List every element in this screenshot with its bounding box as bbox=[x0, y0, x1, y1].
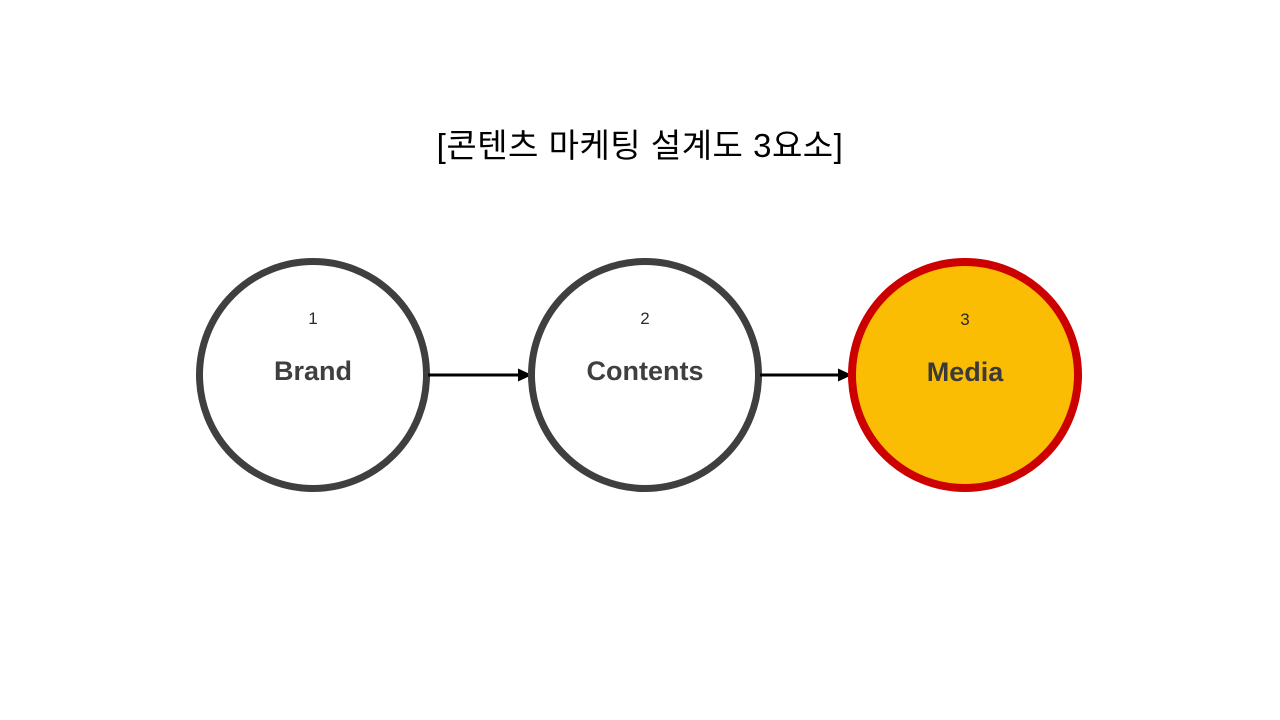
flow-arrow-contents-to-media bbox=[760, 359, 852, 391]
flow-node-label: Media bbox=[927, 356, 1004, 388]
flow-node-contents[interactable]: 2 Contents bbox=[528, 258, 762, 492]
flow-node-label: Brand bbox=[274, 355, 352, 387]
slide-canvas: [콘텐츠 마케팅 설계도 3요소] 1 Brand 2 Contents bbox=[0, 0, 1280, 720]
process-flow-diagram: 1 Brand 2 Contents 3 Media bbox=[0, 258, 1280, 492]
flow-node-index: 2 bbox=[640, 309, 649, 329]
arrow-right-icon bbox=[428, 359, 532, 391]
flow-node-brand[interactable]: 1 Brand bbox=[196, 258, 430, 492]
arrow-right-icon bbox=[760, 359, 852, 391]
flow-node-index: 3 bbox=[960, 310, 969, 330]
page-title: [콘텐츠 마케팅 설계도 3요소] bbox=[0, 122, 1280, 170]
flow-node-label: Contents bbox=[587, 355, 704, 387]
flow-arrow-brand-to-contents bbox=[428, 359, 532, 391]
flow-node-index: 1 bbox=[308, 309, 317, 329]
flow-node-media[interactable]: 3 Media bbox=[848, 258, 1082, 492]
